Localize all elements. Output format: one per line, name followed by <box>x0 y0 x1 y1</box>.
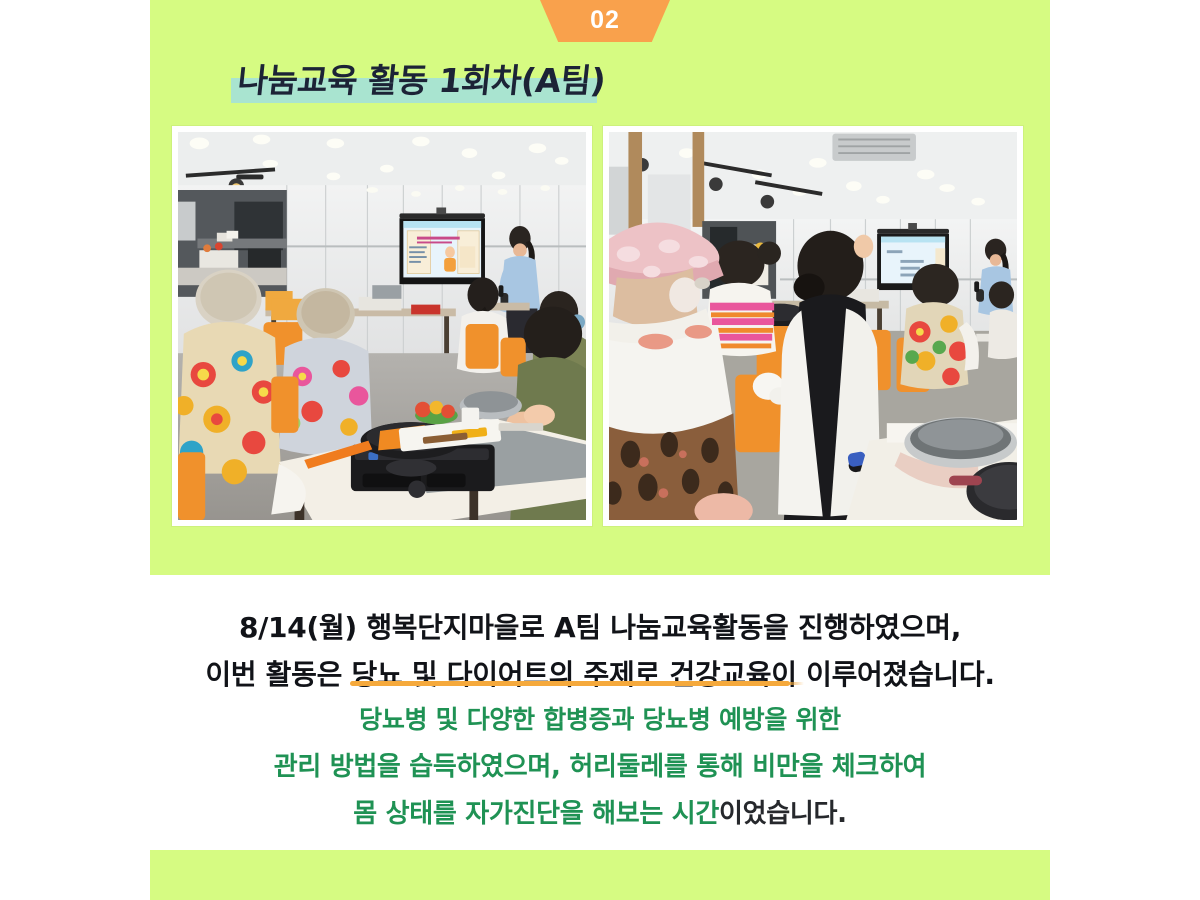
section-number-label: 02 <box>590 8 620 35</box>
caption-line-4: 관리 방법을 습득하였으며, 허리둘레를 통해 비만을 체크하여 <box>0 746 1200 783</box>
caption-line-3: 당뇨병 및 다양한 합병증과 당뇨병 예방을 위한 <box>0 700 1200 736</box>
page-title: 나눔교육 활동 1회차(A팀) <box>235 54 607 102</box>
bottom-green-band <box>150 850 1050 900</box>
caption-underline <box>350 681 790 686</box>
photo-left-illustration <box>178 132 586 520</box>
photo-left-frame <box>172 126 592 526</box>
caption-line-2: 이번 활동은 당뇨 및 다이어트의 주제로 건강교육이 이루어졌습니다. <box>0 653 1200 693</box>
photo-right <box>609 132 1017 520</box>
caption-line-5-green: 몸 상태를 자가진단을 해보는 시간 <box>353 799 719 829</box>
photo-left <box>178 132 586 520</box>
infographic-card: 02 나눔교육 활동 1회차(A팀) <box>0 0 1200 900</box>
caption-line-1: 8/14(월) 행복단지마을로 A팀 나눔교육활동을 진행하였으며, <box>0 606 1200 646</box>
section-number-badge: 02 <box>540 0 670 42</box>
photo-right-illustration <box>609 132 1017 520</box>
caption-line-5: 몸 상태를 자가진단을 해보는 시간이었습니다. <box>0 793 1200 830</box>
caption-line-5-dark: 이었습니다. <box>719 799 847 829</box>
photo-right-frame <box>603 126 1023 526</box>
